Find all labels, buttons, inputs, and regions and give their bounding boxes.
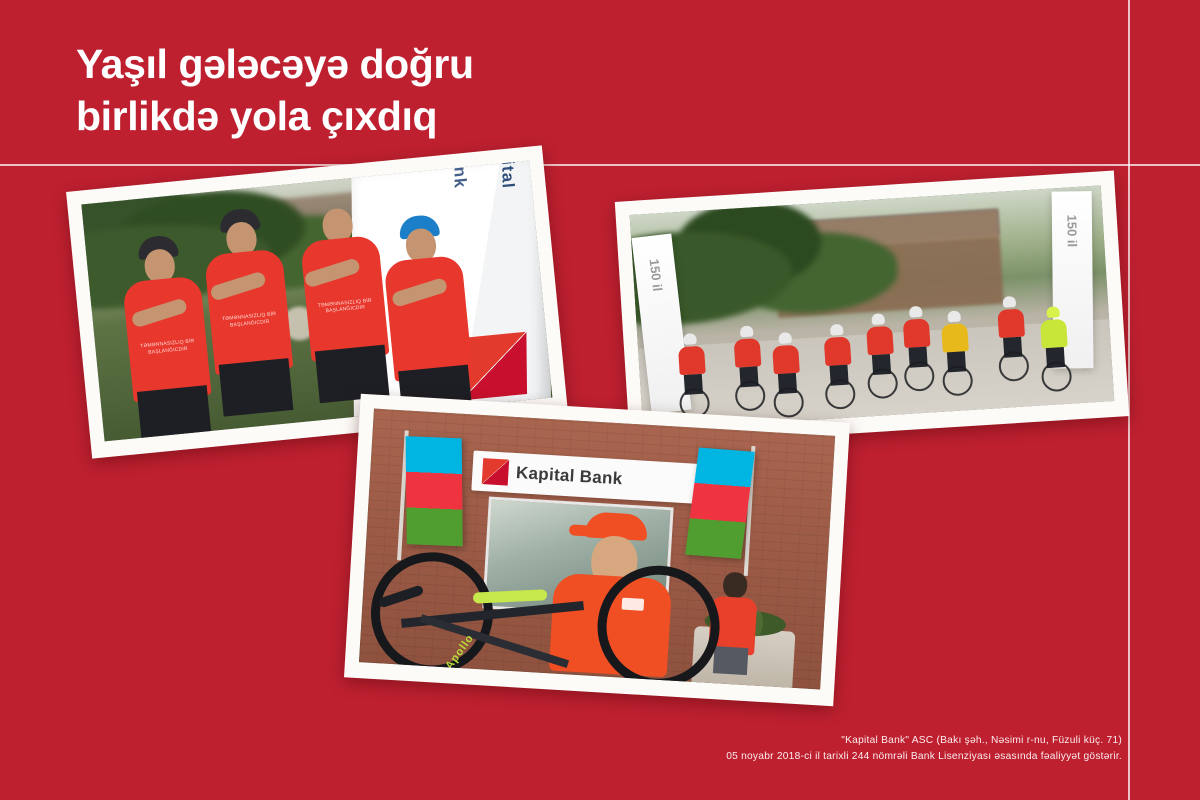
- page-title: Yaşıl gələcəyə doğru birlikdə yola çıxdı…: [76, 38, 776, 142]
- cyclist: [994, 296, 1029, 383]
- vertical-guide-line: [1128, 0, 1130, 800]
- promo-banner: Yaşıl gələcəyə doğru birlikdə yola çıxdı…: [0, 0, 1200, 800]
- child-shirt: [122, 276, 211, 403]
- cyclist-hi-vis: [1037, 306, 1072, 393]
- bicycle: Apollo: [368, 523, 672, 688]
- cyclist-yellow-jersey: [938, 310, 973, 397]
- footer: 150 il BİR BAŞLANĞICIDIR AZƏRBAYCAN VELO…: [0, 690, 1200, 800]
- cyclist: [821, 324, 856, 411]
- bicycle-top-tube: [473, 589, 547, 603]
- horizontal-guide-line: [0, 164, 1200, 166]
- photo-card-peloton: 150 il 150 il: [615, 171, 1129, 448]
- photo-branch-image: Kapital Bank: [359, 409, 835, 690]
- child-shorts: [219, 358, 294, 417]
- cyclist: [769, 331, 804, 418]
- photo-anthem-image: Kapital Bank TƏMƏNNASIZLIQ BİR BAŞLANĞIC…: [81, 161, 552, 442]
- child-shirt: [204, 249, 293, 376]
- legal-disclaimer: "Kapital Bank" ASC (Bakı şəh., Nəsimi r-…: [602, 733, 1122, 766]
- cyclist: [900, 306, 935, 393]
- branch-sign-text: Kapital Bank: [515, 463, 623, 489]
- cyclist: [731, 325, 766, 412]
- photo-card-branch: Kapital Bank: [344, 394, 850, 707]
- banner-text-kapital: Kapital: [497, 161, 518, 191]
- child-shorts: [137, 386, 212, 442]
- child-shirt: [300, 234, 389, 361]
- flag-text: 150 il: [646, 258, 665, 292]
- child-shirt: [383, 255, 472, 382]
- photo-peloton-image: 150 il 150 il: [630, 185, 1115, 430]
- flag-text: 150 il: [1064, 215, 1079, 248]
- banner-text-bank: Bank: [450, 161, 470, 190]
- cyclist: [675, 333, 710, 420]
- kapital-k-icon: [481, 458, 508, 485]
- cyclist: [863, 312, 898, 399]
